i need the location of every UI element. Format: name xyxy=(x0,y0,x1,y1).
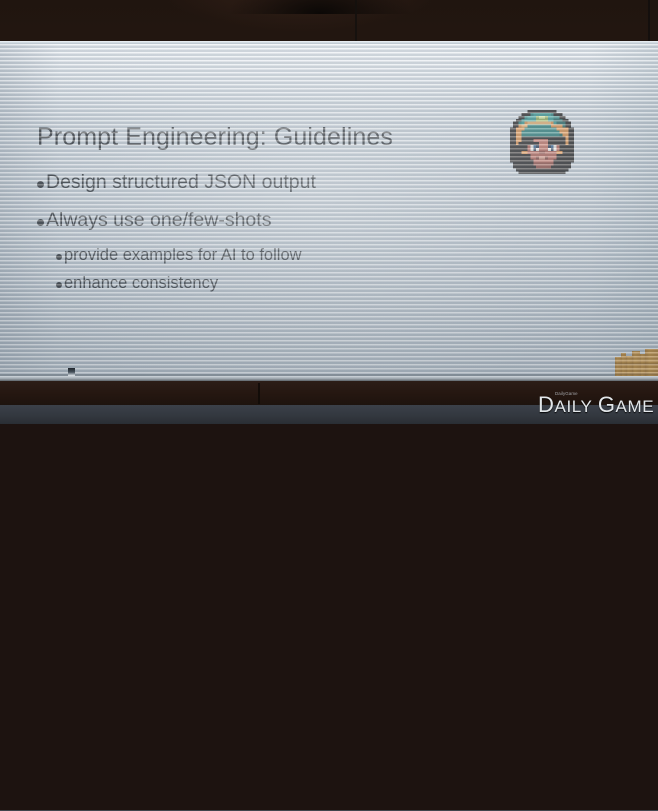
stage-ledge-seam xyxy=(258,383,260,404)
list-item-label: Design structured JSON output xyxy=(46,170,316,194)
page-title: Prompt Engineering: Guidelines xyxy=(37,122,393,152)
bullet-dot-icon xyxy=(37,219,44,226)
pixel-art-character-avatar-icon xyxy=(503,110,581,180)
bullet-dot-icon xyxy=(37,181,44,188)
watermark-word-ame: AME xyxy=(616,397,655,416)
list-item: Design structured JSON output xyxy=(37,170,316,194)
watermark-subtext: DailyGame xyxy=(555,391,578,396)
bullet-dot-icon xyxy=(56,254,62,260)
list-item: enhance consistency xyxy=(56,273,218,294)
list-item-label: Always use one/few-shots xyxy=(46,208,271,232)
watermark-label: DAILY GAME xyxy=(538,396,654,416)
list-item: provide examples for AI to follow xyxy=(56,245,302,266)
list-item-label: provide examples for AI to follow xyxy=(64,245,302,266)
watermark-letter-g: G xyxy=(598,392,616,417)
daily-game-watermark: DailyGame DAILY GAME xyxy=(538,396,654,416)
list-item-label: enhance consistency xyxy=(64,273,218,294)
list-item: Always use one/few-shots xyxy=(37,208,271,232)
wall-panel-seam xyxy=(355,0,357,44)
screen-center-marker xyxy=(68,368,75,376)
watermark-word-aily: AILY xyxy=(555,397,593,416)
ceiling-shadow xyxy=(230,0,410,14)
pixel-art-orange-block-icon xyxy=(615,349,658,376)
wall-panel-seam xyxy=(648,0,650,44)
watermark-letter-d: D xyxy=(538,392,555,417)
presentation-slide: Prompt Engineering: Guidelines Design st… xyxy=(0,44,658,376)
projection-screen: Prompt Engineering: Guidelines Design st… xyxy=(0,44,658,376)
bullet-dot-icon xyxy=(56,282,62,288)
